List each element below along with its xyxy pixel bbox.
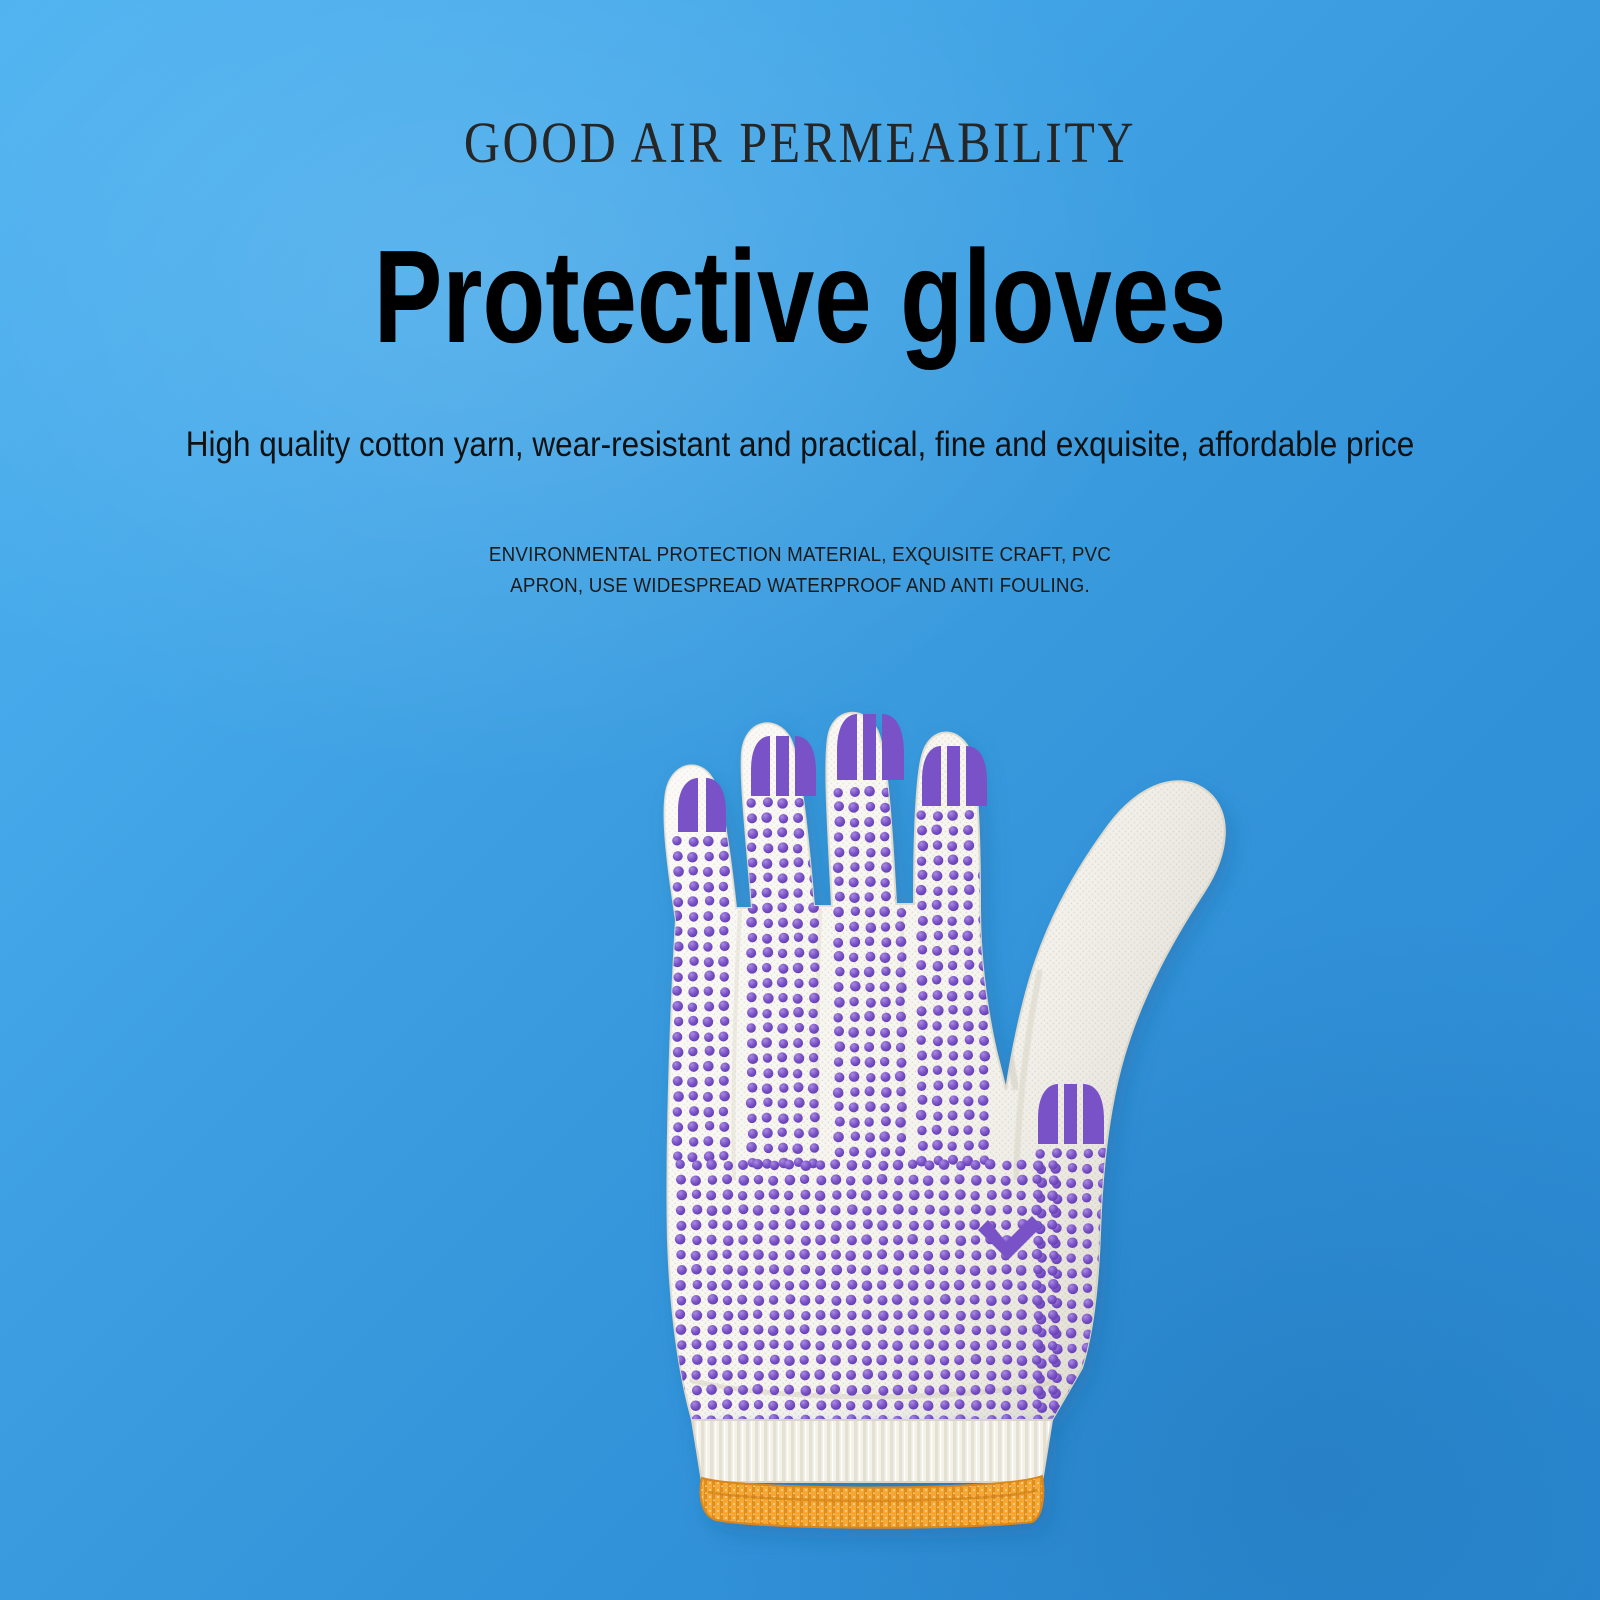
product-image-glove bbox=[440, 620, 1250, 1520]
page-title: Protective gloves bbox=[176, 222, 1424, 372]
glove-illustration bbox=[440, 620, 1250, 1520]
description-line-2: APRON, USE WIDESPREAD WATERPROOF AND ANT… bbox=[48, 571, 1552, 602]
fingertip-pad-middle bbox=[837, 714, 904, 780]
wrist-rib bbox=[692, 1420, 1052, 1482]
description-line-1: ENVIRONMENTAL PROTECTION MATERIAL, EXQUI… bbox=[48, 540, 1552, 571]
product-poster: GOOD AIR PERMEABILITY Protective gloves … bbox=[0, 0, 1600, 1600]
eyebrow-heading: GOOD AIR PERMEABILITY bbox=[112, 108, 1488, 178]
fingertip-pad-thumbside bbox=[1038, 1084, 1104, 1144]
glove-cuff bbox=[692, 1420, 1052, 1528]
description-block: ENVIRONMENTAL PROTECTION MATERIAL, EXQUI… bbox=[48, 540, 1552, 602]
fingertip-pad-ring bbox=[751, 736, 816, 796]
subtitle: High quality cotton yarn, wear-resistant… bbox=[80, 422, 1520, 468]
fingertip-pad-index bbox=[922, 746, 987, 806]
